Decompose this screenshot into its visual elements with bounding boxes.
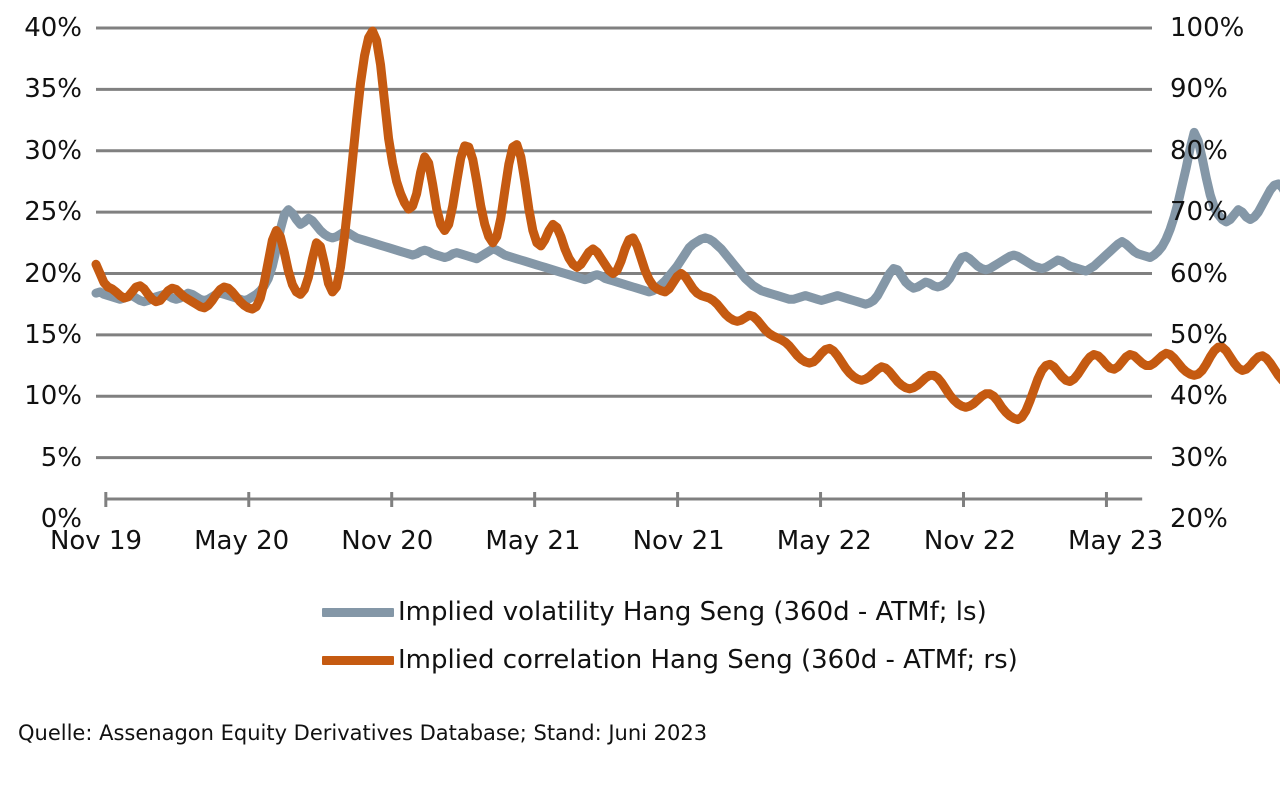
legend-item-volatility: Implied volatility Hang Seng (360d - ATM… xyxy=(0,588,1280,636)
x-tick-label: Nov 21 xyxy=(633,528,725,554)
left-tick-label: 20% xyxy=(24,261,82,287)
left-tick-label: 30% xyxy=(24,138,82,164)
left-tick-label: 5% xyxy=(41,445,82,471)
plot-area xyxy=(96,28,1152,519)
right-tick-label: 70% xyxy=(1170,199,1228,225)
right-tick-label: 80% xyxy=(1170,138,1228,164)
x-tick-label: May 23 xyxy=(1068,528,1163,554)
right-tick-label: 50% xyxy=(1170,322,1228,348)
right-tick-label: 60% xyxy=(1170,261,1228,287)
x-tick-label: Nov 22 xyxy=(924,528,1016,554)
right-tick-label: 100% xyxy=(1170,15,1244,41)
x-tick-label: May 21 xyxy=(485,528,580,554)
x-tick-label: Nov 19 xyxy=(50,528,142,554)
left-tick-label: 35% xyxy=(24,76,82,102)
x-tick-label: Nov 20 xyxy=(341,528,433,554)
legend-label-volatility: Implied volatility Hang Seng (360d - ATM… xyxy=(398,597,987,627)
legend-item-correlation: Implied correlation Hang Seng (360d - AT… xyxy=(0,636,1280,684)
left-tick-label: 10% xyxy=(24,383,82,409)
x-tick-label: May 20 xyxy=(194,528,289,554)
legend-label-correlation: Implied correlation Hang Seng (360d - AT… xyxy=(398,645,1018,675)
legend-swatch-correlation xyxy=(322,656,394,665)
chart-legend: Implied volatility Hang Seng (360d - ATM… xyxy=(0,588,1280,684)
chart-figure: 0%5%10%15%20%25%30%35%40% 20%30%40%50%60… xyxy=(0,0,1280,789)
left-tick-label: 25% xyxy=(24,199,82,225)
left-tick-label: 40% xyxy=(24,15,82,41)
source-note: Quelle: Assenagon Equity Derivatives Dat… xyxy=(18,720,707,746)
data-series-layer xyxy=(96,28,1152,519)
right-tick-label: 20% xyxy=(1170,506,1228,532)
legend-swatch-volatility xyxy=(322,608,394,617)
right-tick-label: 40% xyxy=(1170,383,1228,409)
right-tick-label: 90% xyxy=(1170,76,1228,102)
right-tick-label: 30% xyxy=(1170,445,1228,471)
x-tick-label: May 22 xyxy=(777,528,872,554)
left-tick-label: 15% xyxy=(24,322,82,348)
series-line-correlation xyxy=(96,31,1280,421)
